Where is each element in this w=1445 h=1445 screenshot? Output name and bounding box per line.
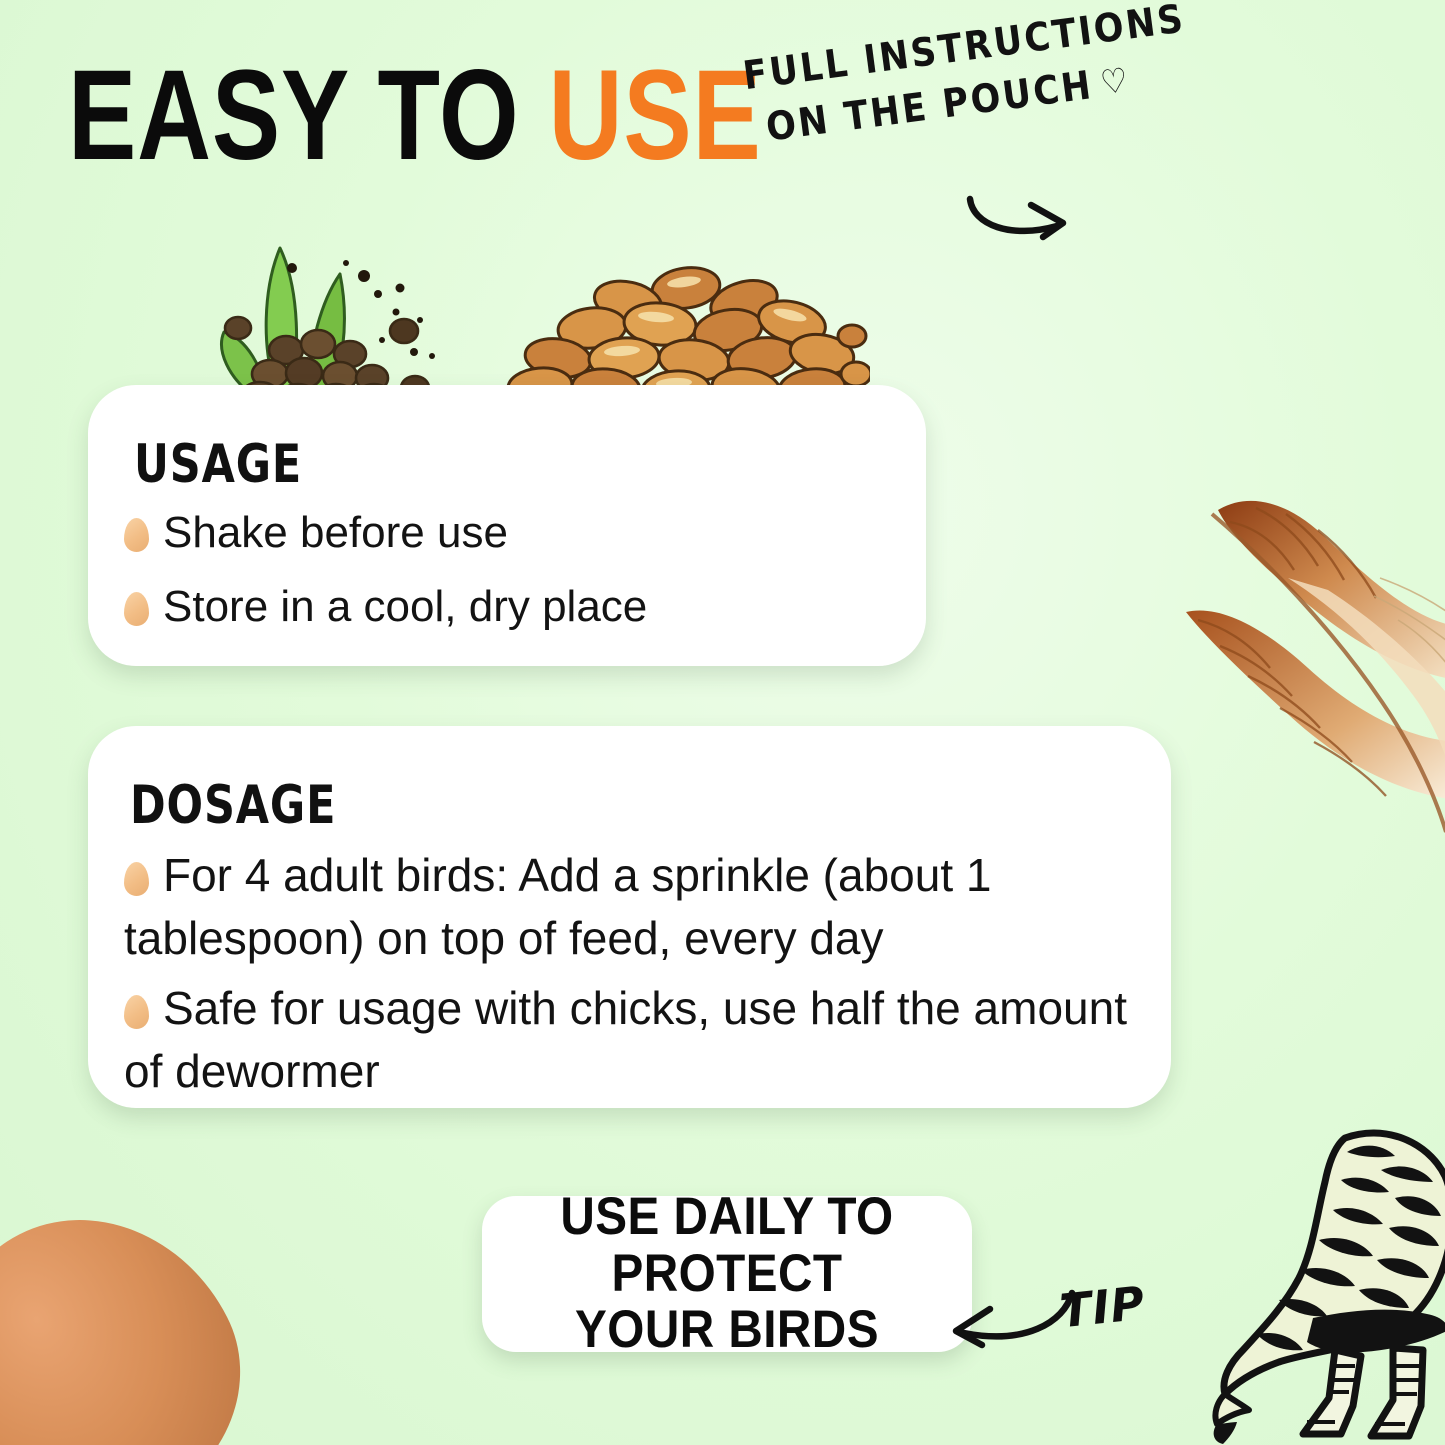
page-title-accent: USE — [549, 44, 762, 187]
usage-card-title: USAGE — [134, 433, 302, 494]
list-item-label: Safe for usage with chicks, use half the… — [124, 982, 1127, 1097]
list-item: Shake before use — [124, 503, 898, 563]
list-item: For 4 adult birds: Add a sprinkle (about… — [124, 844, 1143, 969]
dosage-card: DOSAGE For 4 adult birds: Add a sprinkle… — [88, 726, 1171, 1108]
egg-bullet-icon — [124, 518, 149, 552]
egg-bullet-icon — [124, 995, 149, 1029]
list-item-label: Store in a cool, dry place — [163, 582, 647, 631]
egg-bullet-icon — [124, 592, 149, 626]
egg-bullet-icon — [124, 862, 149, 896]
curved-arrow-left-icon — [938, 1283, 1078, 1353]
list-item: Store in a cool, dry place — [124, 577, 898, 637]
pecking-hen-illustration — [1195, 1118, 1445, 1445]
infographic-canvas: EASY TO USE FULL INSTRUCTIONS ON THE POU… — [0, 0, 1445, 1445]
list-item-label: Shake before use — [163, 508, 508, 557]
tip-label: TIP — [1057, 1276, 1147, 1339]
tip-line-1: USE DAILY TO PROTECT — [560, 1187, 893, 1303]
brown-egg-photo — [0, 1167, 287, 1445]
dosage-bullet-list: For 4 adult birds: Add a sprinkle (about… — [124, 844, 1143, 1110]
tip-callout-box: USE DAILY TO PROTECT YOUR BIRDS — [482, 1196, 972, 1352]
usage-bullet-list: Shake before use Store in a cool, dry pl… — [124, 503, 898, 651]
list-item: Safe for usage with chicks, use half the… — [124, 977, 1143, 1102]
dosage-card-title: DOSAGE — [130, 774, 336, 835]
curved-arrow-right-icon — [965, 183, 1095, 245]
list-item-label: For 4 adult birds: Add a sprinkle (about… — [124, 849, 991, 964]
tip-line-2: YOUR BIRDS — [575, 1300, 879, 1359]
page-title-primary: EASY TO — [68, 44, 549, 187]
rooster-feather-illustration — [1168, 470, 1445, 850]
page-title: EASY TO USE — [68, 52, 762, 180]
heart-icon: ♡ — [1098, 61, 1132, 104]
usage-card: USAGE Shake before use Store in a cool, … — [88, 385, 926, 666]
handwritten-note: FULL INSTRUCTIONS ON THE POUCH♡ — [735, 12, 1094, 151]
herb-seed-pile-illustration — [168, 228, 478, 403]
tip-callout-text: USE DAILY TO PROTECT YOUR BIRDS — [507, 1189, 948, 1359]
grain-pellet-pile-illustration — [500, 262, 870, 402]
